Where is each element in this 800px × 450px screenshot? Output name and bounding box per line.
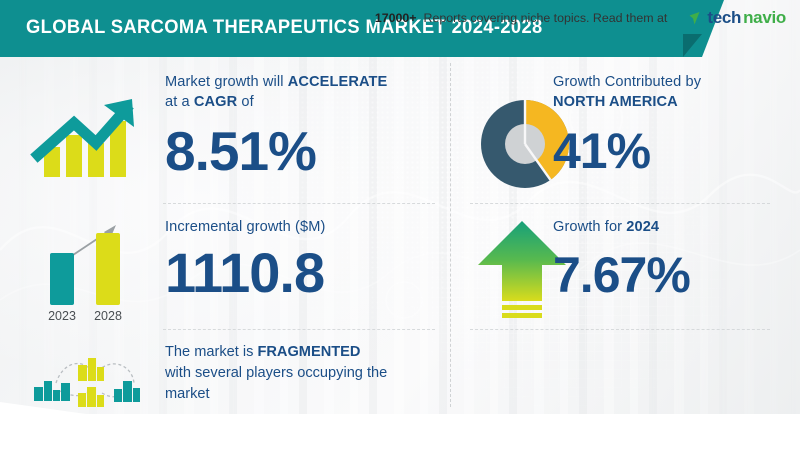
cagr-block: Market growth will ACCELERATE at a CAGR … (165, 72, 445, 179)
year-growth-label-part1: Growth for (553, 219, 626, 235)
region-contribution-block: Growth Contributed by NORTH AMERICA 41% (553, 72, 793, 176)
footer-content: 17000+ Reports covering niche topics. Re… (375, 0, 786, 36)
fragmentation-block: The market is FRAGMENTED with several pl… (165, 342, 455, 405)
cagr-label-part3: of (237, 94, 254, 110)
cagr-label: Market growth will ACCELERATE at a CAGR … (165, 72, 445, 112)
year-growth-value: 7.67% (553, 250, 793, 300)
fragmentation-line2: with several players occupying the (165, 365, 387, 381)
region-label-line1: Growth Contributed by (553, 74, 701, 90)
logo-text-tech: tech (707, 8, 741, 28)
divider-left-2 (163, 329, 435, 330)
fragmentation-line1-strong: FRAGMENTED (257, 344, 360, 360)
two-bar-comparison-icon: 2023 2028 (24, 207, 144, 325)
header-fold-shadow (683, 34, 702, 57)
bar-label-2028: 2028 (94, 309, 122, 323)
cagr-label-accelerate: ACCELERATE (288, 74, 388, 90)
region-value: 41% (553, 126, 793, 176)
cagr-label-part2: at a (165, 94, 194, 110)
content-area: 2023 2028 (0, 57, 800, 414)
year-growth-label: Growth for 2024 (553, 217, 793, 237)
fragmentation-line3: market (165, 386, 210, 402)
technavio-logo[interactable]: technavio (688, 8, 786, 28)
divider-right-1 (470, 203, 770, 204)
divider-left-1 (163, 203, 435, 204)
year-growth-block: Growth for 2024 7.67% (553, 217, 793, 300)
cagr-value: 8.51% (165, 124, 445, 179)
footer-bar (0, 414, 800, 450)
footer-report-count: 17000+ (375, 11, 417, 25)
technavio-arrow-icon (688, 10, 705, 27)
region-label-line2: NORTH AMERICA (553, 94, 678, 110)
incremental-growth-block: Incremental growth ($M) 1110.8 (165, 217, 445, 301)
growth-arrow-chart-icon (24, 87, 144, 185)
incremental-growth-value: 1110.8 (165, 245, 445, 301)
divider-right-2 (470, 329, 770, 330)
fragmentation-text: The market is FRAGMENTED with several pl… (165, 342, 455, 405)
region-label: Growth Contributed by NORTH AMERICA (553, 72, 793, 112)
cagr-label-cagr: CAGR (194, 94, 237, 110)
year-growth-label-year: 2024 (626, 219, 659, 235)
incremental-growth-label: Incremental growth ($M) (165, 217, 445, 237)
cagr-label-part1: Market growth will (165, 74, 288, 90)
infographic-canvas: GLOBAL SARCOMA THERAPEUTICS MARKET 2024-… (0, 0, 800, 450)
fragmentation-line1-part1: The market is (165, 344, 257, 360)
bar-label-2023: 2023 (48, 309, 76, 323)
footer-tagline: Reports covering niche topics. Read them… (424, 11, 668, 25)
footer-notch (0, 402, 86, 414)
logo-text-navio: navio (743, 8, 786, 28)
